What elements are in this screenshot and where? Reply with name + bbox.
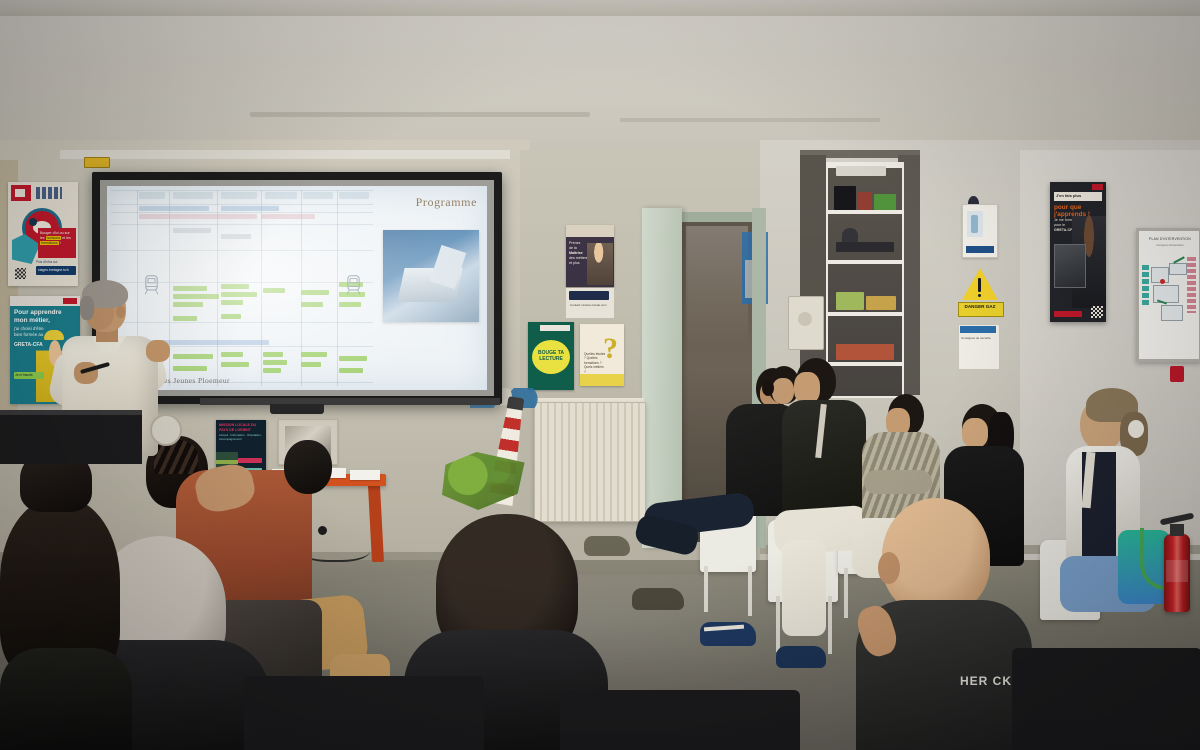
poster-logo [1092,184,1103,190]
label-tag [84,157,110,168]
screen-mount [270,404,324,414]
danger-gaz-label: DANGER GAZ [958,304,1002,309]
poster-footer-bar [1054,311,1082,317]
audience-face [962,418,988,448]
cable-connector [318,526,327,535]
shelf-board [828,210,902,214]
door-leaf[interactable] [642,208,682,548]
storage-box [874,194,896,210]
poster-line-4: des métiers [569,256,588,260]
papers [836,166,886,176]
poster-footer-note: Contact mission-locale.com [570,303,607,307]
poster-line-3: Maîtrise [569,251,583,255]
wall-instruction-sheet [962,204,998,258]
wall-clock [150,414,182,446]
hair-bun [762,380,774,396]
white-shelving-unit [826,162,904,398]
chair-leg [844,568,848,618]
poster-band-text: J'en fais plus [1056,193,1081,198]
low-cabinet [0,412,142,464]
poster-photo-strip [566,225,614,237]
shelf-board [828,260,902,264]
poster-greta-right: J'en fais plus pour que j'apprends ! Je … [1050,182,1106,322]
ear [878,552,900,584]
poster-bouge-ta-lecture: BOUGE TA LECTURE [528,322,574,390]
ceiling-track [250,112,590,117]
speaker-hair-side [80,296,94,320]
ceiling [0,0,1200,150]
fire-alarm-icon[interactable] [1170,366,1184,382]
poster-photo-person [587,243,613,285]
folders [836,344,894,360]
poster-inset-photo [1054,244,1086,288]
headline-highlight-2: formations [40,241,59,245]
poster-line-1: Prenez [569,241,580,245]
poster-cta-label: stages.bretagne.bzh [38,268,69,272]
poster-button-label: Je m'inscris [15,373,33,377]
shelf-board [828,362,902,366]
cabinet-top [0,410,142,415]
poster-center-footer: Contact mission-locale.com [566,288,614,318]
hair-scrunchie [1128,420,1144,438]
poster-logo-mark [11,185,31,201]
shirt-text: HER CK [960,674,1012,688]
equipment [842,228,858,242]
chair-leg [704,566,708,612]
chair-leg [776,596,780,652]
sneaker [632,588,684,610]
slide-title: Programme [416,195,477,210]
speaker-hand-right [146,340,170,362]
hard-hat-icon [44,330,64,340]
headline-line-1: Pour apprendre [14,309,62,316]
evacuation-map [1149,253,1189,327]
binder [858,192,872,210]
headline-highlight-1: horizons [46,236,62,240]
poster-subline-2: pour le [1054,223,1065,227]
poster-text: Quelles études ? Quelles formations ? Qu… [584,352,606,374]
wall-radiator [534,402,646,522]
train-icon [143,274,160,296]
corridor-light [686,226,748,346]
warning-exclamation [978,278,981,292]
binder [834,186,856,210]
dark-chair-back[interactable] [560,690,800,750]
audience-head [284,440,332,494]
poster-line-2: de la [569,246,577,250]
poster-title: BOUGE TA LECTURE [534,350,568,362]
poster-brand-logo [36,187,62,199]
evacuation-plan-title: PLAN D'INTERVENTION [1145,237,1195,241]
audience-torso [0,648,132,750]
screen-bottom-strip [200,398,500,405]
sneaker [584,536,630,556]
dark-chair-back[interactable] [1012,648,1200,750]
chair-leg [828,596,832,654]
ceiling-track-secondary [620,118,880,122]
handout-papers [350,470,380,480]
slide-photo [383,230,479,322]
photo-scene: DANGER GAZ Consignes de sécurité J'en fa… [0,0,1200,750]
poster-subtitle: Accueil · Information · Orientation · Ac… [219,434,263,442]
instruction-illustration [967,211,983,237]
train-icon [345,274,362,296]
extinguisher-neck [1170,524,1184,536]
sneaker [776,646,826,668]
ceiling-beam [0,0,1200,16]
poster-headline: Pour apprendre mon métier, [14,309,76,324]
whiteboard-rail [60,150,510,159]
fusebox-dial[interactable] [798,312,812,326]
evacuation-legend-strip [1142,265,1149,307]
poster-headline: Bouger d'ici ou sur les horizons et les … [40,231,74,246]
poster-line-5: et plus [569,261,580,265]
qr-code-icon [1091,306,1103,318]
evacuation-plan-subtitle: Consignes d'évacuation [1147,244,1193,247]
equipment [836,242,894,252]
chair-leg [748,566,752,616]
qr-code-icon [15,268,26,279]
extinguisher-label [1166,560,1188,582]
headline-line-2: mon métier, [14,317,50,324]
eye-icon [29,218,37,226]
slide-footer: Les Jeunes Ploemeur [159,376,230,385]
speaker-ear [116,306,125,318]
shelf-board [828,312,902,316]
audience-head [882,498,990,614]
poster-footer-bar [580,374,624,386]
poster-footer-band [569,291,609,300]
poster-banner [540,325,570,331]
safety-instructions-title: Consignes de sécurité [961,336,995,340]
instruction-band [966,246,994,253]
poster-orientation: ? Quelles études ? Quelles formations ? … [580,324,624,386]
lighthouse-lantern [507,396,525,410]
poster-cta-note: Plus d'infos sur [36,260,58,264]
safety-instructions-band [960,326,996,333]
poster-region-bretagne: Bouger d'ici ou sur les horizons et les … [8,182,78,286]
evacuation-plan: PLAN D'INTERVENTION Consignes d'évacuati… [1136,228,1200,362]
poster-center-top: Prenez de la Maîtrise des métiers et plu… [566,225,614,287]
headline-part-2: et les [61,236,71,240]
audience-lower-leg [782,540,826,636]
storage-box [836,292,864,310]
folded-arms [864,470,932,494]
poster-title: MISSION LOCALE DU PAYS DE LORIENT [219,423,263,432]
dark-chair-back[interactable] [244,676,484,750]
audience-face [772,378,794,404]
folders [866,296,896,310]
poster-logo [63,298,77,304]
headline-part-3: ! [59,241,61,245]
subtext-line-1: j'ai choisi d'être [14,326,44,331]
warning-exclamation-dot [978,294,981,297]
poster-subline-1: Je me forme [1054,218,1074,222]
